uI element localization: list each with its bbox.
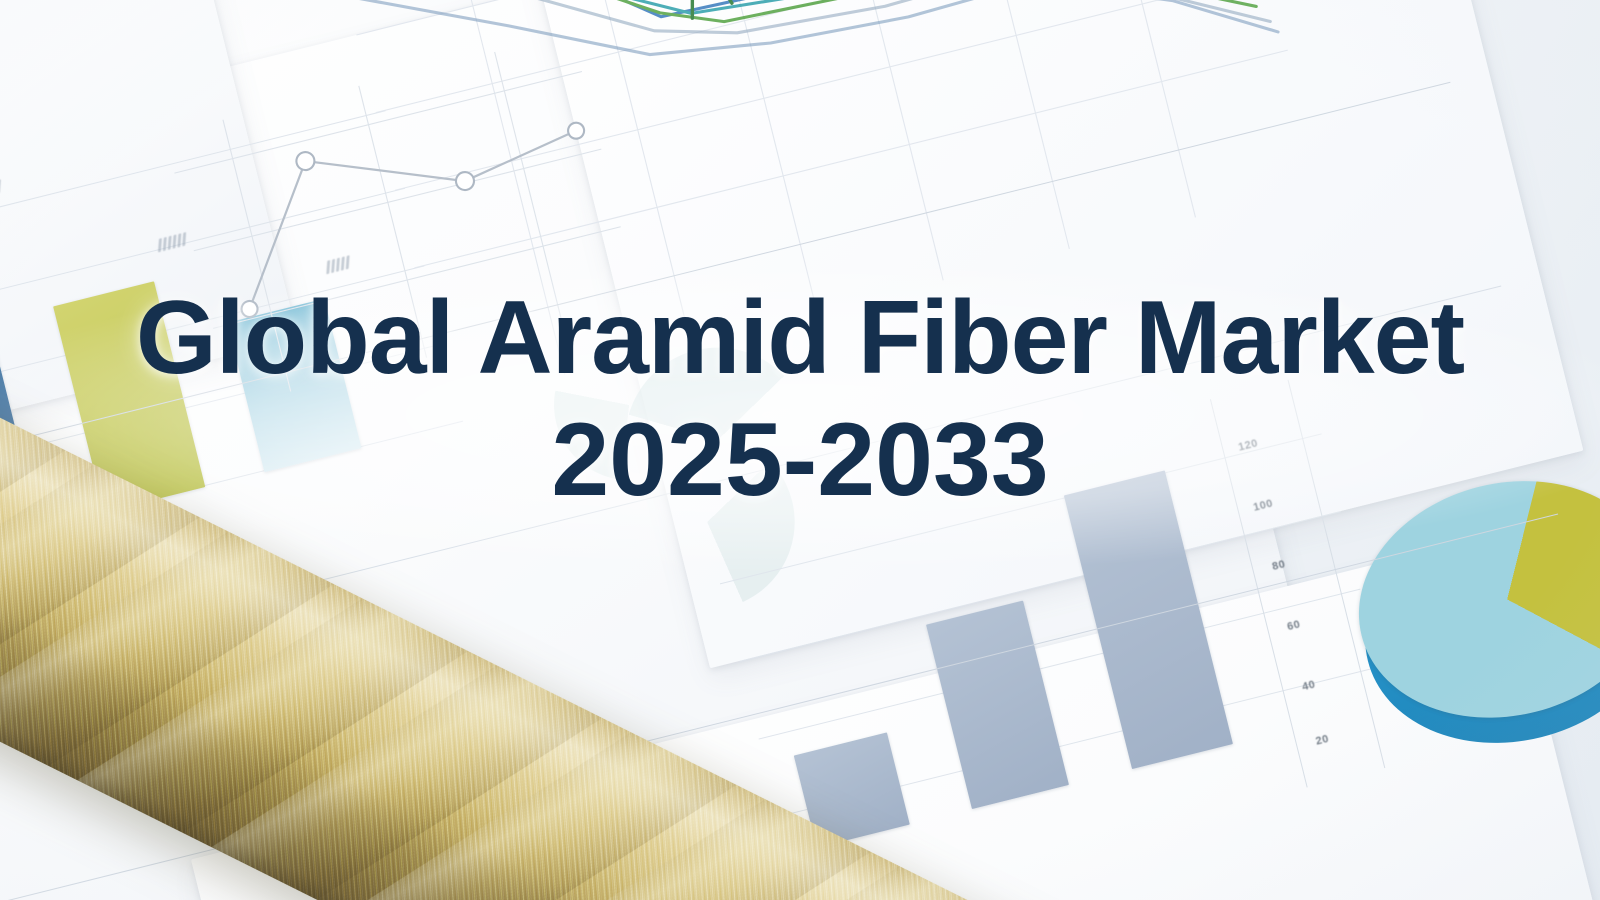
- bar-gray-3: [1064, 470, 1233, 769]
- banner-canvas: 120 100 80 60 40 20: [0, 0, 1600, 900]
- bar-gray-2: [926, 601, 1069, 810]
